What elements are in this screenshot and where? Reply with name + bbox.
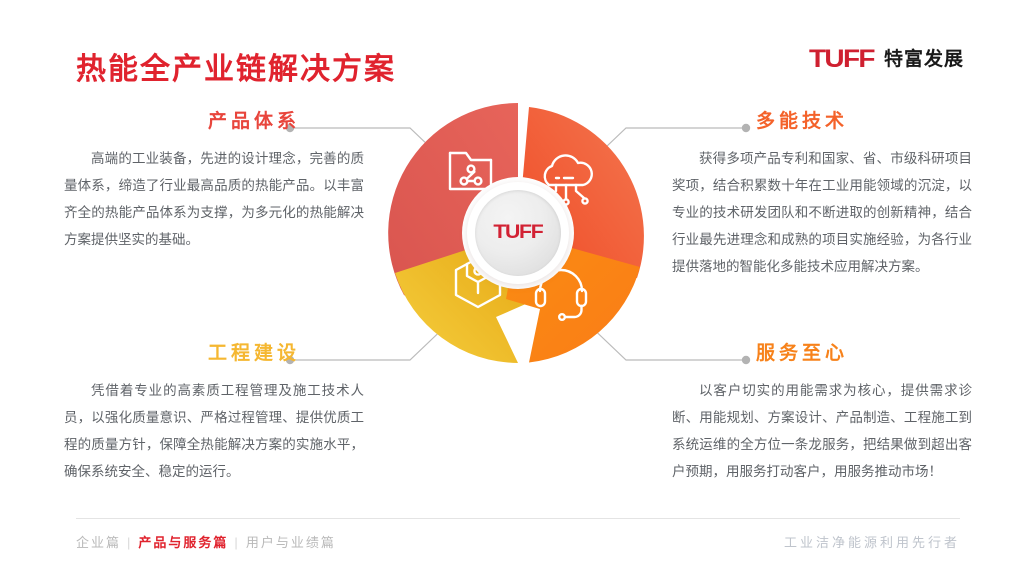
quadrant-body-product-system: 高端的工业装备，先进的设计理念，完善的质量体系，缔造了行业最高品质的热能产品。以… [64,145,364,253]
quadrant-engineering-construction: 工程建设 凭借着专业的高素质工程管理及施工技术人员，以强化质量意识、严格过程管理… [64,344,364,485]
footer-nav-separator-1: | [234,535,239,550]
page-title: 热能全产业链解决方案 [76,44,396,88]
quadrant-heading-engineering-construction: 工程建设 [64,344,364,363]
footer-nav: 企业篇|产品与服务篇|用户与业绩篇 [76,532,336,551]
center-hub-logo: TUFF [494,222,543,244]
quadrant-heading-service-first: 服务至心 [672,344,972,363]
slide-canvas: 热能全产业链解决方案 TUFF 特富发展 [0,0,1036,586]
footer-nav-separator-0: | [127,535,132,550]
slide-header: 热能全产业链解决方案 TUFF 特富发展 [0,0,1036,96]
quadrant-body-multi-energy-technology: 获得多项产品专利和国家、省、市级科研项目奖项，结合积累数十年在工业用能领域的沉淀… [672,145,972,280]
footer-nav-item-2[interactable]: 用户与业绩篇 [246,535,336,550]
quadrant-body-engineering-construction: 凭借着专业的高素质工程管理及施工技术人员，以强化质量意识、严格过程管理、提供优质… [64,377,364,485]
brand-logo: TUFF 特富发展 [809,47,964,72]
footer-nav-item-1[interactable]: 产品与服务篇 [138,535,228,550]
quadrant-heading-product-system: 产品体系 [64,112,364,131]
quadrant-service-first: 服务至心 以客户切实的用能需求为核心，提供需求诊断、用能规划、方案设计、产品制造… [672,344,972,485]
quadrant-heading-multi-energy-technology: 多能技术 [672,112,972,131]
footer-nav-item-0[interactable]: 企业篇 [76,535,121,550]
quadrant-product-system: 产品体系 高端的工业装备，先进的设计理念，完善的质量体系，缔造了行业最高品质的热… [64,112,364,253]
center-hub: TUFF [467,182,569,284]
quadrant-multi-energy-technology: 多能技术 获得多项产品专利和国家、省、市级科研项目奖项，结合积累数十年在工业用能… [672,112,972,280]
segmented-donut-diagram: TUFF [388,103,648,363]
footer-divider [76,518,960,519]
quadrant-body-service-first: 以客户切实的用能需求为核心，提供需求诊断、用能规划、方案设计、产品制造、工程施工… [672,377,972,485]
brand-logo-name: 特富发展 [884,50,964,69]
brand-logo-mark: TUFF [809,47,874,72]
center-hub-disc: TUFF [475,190,561,276]
footer-tagline: 工业洁净能源利用先行者 [784,532,960,551]
